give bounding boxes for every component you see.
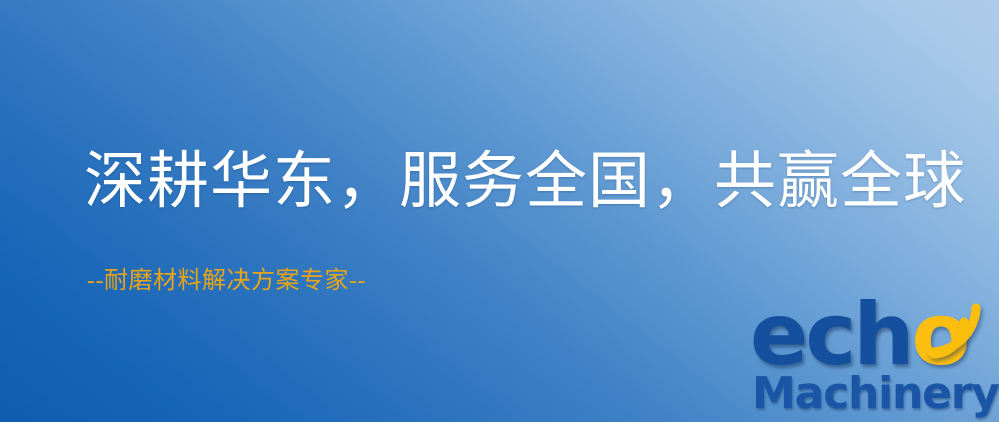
company-logo: echo Machinery® xyxy=(748,296,998,420)
logo-tagline: Machinery® xyxy=(752,372,999,416)
logo-tagline-text: Machinery xyxy=(752,368,999,419)
promotional-banner: 深耕华东，服务全国，共赢全球 --耐磨材料解决方案专家-- echo Machi… xyxy=(0,0,999,422)
page-title: 深耕华东，服务全国，共赢全球 xyxy=(84,150,966,215)
signal-waves-icon xyxy=(924,296,994,358)
banner-subtitle: --耐磨材料解决方案专家-- xyxy=(87,267,366,296)
